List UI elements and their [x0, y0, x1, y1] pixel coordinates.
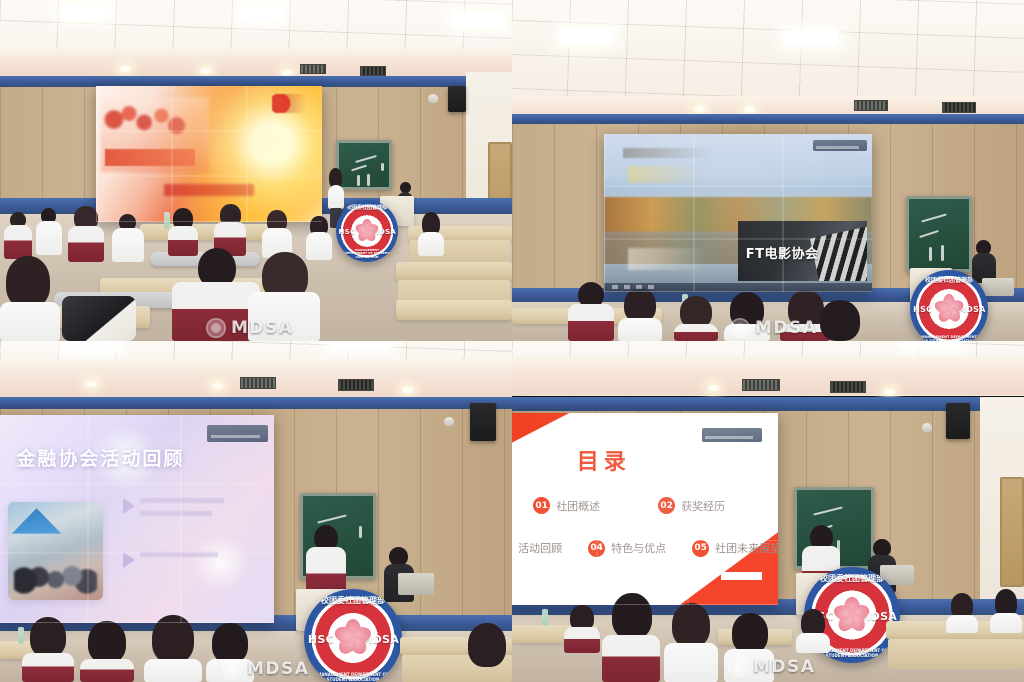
student-torso [664, 643, 718, 682]
audience-member [564, 605, 600, 653]
student-torso [172, 282, 260, 341]
desk-row [140, 224, 270, 240]
audience-member-foreground [248, 252, 320, 341]
slide-text-line [140, 552, 218, 557]
audience-member-foreground [724, 613, 774, 682]
downlight [86, 381, 97, 387]
audience-member [796, 609, 830, 653]
water-bottle [542, 609, 548, 626]
emblem-left-text: HSC [338, 228, 355, 236]
slide-logo-icon [272, 94, 308, 113]
photo-collage: 校团委社团管理部 HSC MDSA MANAGEMENT DEPARTMENT … [0, 0, 1024, 682]
student-torso [796, 633, 830, 653]
laptop [398, 573, 434, 595]
emblem-arc-top: 校团委社团管理部 [336, 204, 398, 211]
emblem-arc-bottom: MANAGEMENT DEPARTMENT OF STUDENT ASSOCIA… [304, 673, 402, 682]
video-wall[interactable]: FT电影协会 [604, 134, 872, 292]
student-hair [624, 288, 656, 322]
student-hair [730, 292, 764, 328]
toc-label: 社团概述 [556, 498, 600, 514]
presentation-toolbar[interactable] [813, 140, 867, 151]
student-torso [36, 221, 62, 255]
downlight [744, 107, 755, 113]
security-camera [428, 94, 438, 103]
student-torso [564, 627, 600, 653]
student-hair [152, 615, 194, 663]
slide-blob [190, 536, 252, 590]
student-hair [212, 623, 248, 663]
audience-member [990, 589, 1022, 633]
ceiling-speaker [448, 86, 466, 112]
student-torso [674, 324, 718, 341]
student-torso [112, 228, 144, 262]
chalk-mark [357, 175, 360, 186]
security-camera [444, 417, 454, 426]
taskbar-icon[interactable] [636, 285, 642, 289]
chalk-mark [919, 230, 939, 238]
hsc-mdsa-club-emblem: 校团委社团管理部 HSC MDSA MANAGEMENT DEPARTMENT … [910, 270, 988, 341]
video-wall[interactable]: 目录 01 社团概述 02 获奖经历 03 活动回顾 [512, 413, 778, 605]
audience-member-foreground [618, 288, 662, 341]
play-triangle-icon [123, 552, 135, 568]
air-vent [742, 379, 780, 391]
slide-film-club: FT电影协会 [604, 134, 872, 292]
student-torso [4, 225, 32, 259]
toc-item[interactable]: 01 社团概述 [533, 497, 600, 514]
chalk-mark [367, 174, 370, 186]
ceiling-panel-light [330, 341, 390, 349]
photo-top-right[interactable]: FT电影协会 校 [512, 0, 1024, 341]
ceiling-speaker [470, 403, 496, 441]
student-hair [820, 300, 860, 341]
student-torso [724, 649, 774, 682]
slide-image-card [8, 502, 103, 600]
toc-label: 获奖经历 [681, 498, 725, 514]
audience-member-foreground [0, 256, 60, 341]
student-hair [672, 603, 710, 647]
wall-blue-band [512, 114, 1024, 124]
air-vent [830, 381, 866, 393]
student-torso [80, 659, 134, 682]
presentation-toolbar[interactable] [207, 425, 269, 442]
student-hair [732, 613, 768, 653]
air-vent [338, 379, 374, 391]
slide-title: 金融协会活动回顾 [16, 444, 184, 471]
slide-finance-review: 金融协会活动回顾 [0, 415, 274, 623]
toc-item[interactable]: 03 活动回顾 [512, 540, 562, 557]
slide-text-line [140, 498, 224, 503]
downlight [694, 106, 705, 112]
audience-member [36, 208, 62, 258]
hsc-mdsa-club-emblem: 校团委社团管理部 HSC MDSA MANAGEMENT DEPARTMENT … [304, 589, 402, 682]
audience-member [112, 214, 144, 262]
student-torso [0, 302, 60, 341]
toc-number: 04 [588, 540, 605, 557]
backpack [62, 296, 136, 341]
slide-people-blur [14, 549, 98, 594]
audience-member-foreground [674, 296, 718, 341]
taskbar-icon[interactable] [612, 285, 618, 289]
downlight [120, 66, 131, 72]
taskbar-icon[interactable] [624, 285, 630, 289]
slide-white-bar [721, 572, 762, 580]
slide-banner-strip [105, 149, 195, 167]
student-torso [206, 659, 254, 682]
slide-photo-card: FT电影协会 [738, 221, 867, 281]
presentation-toolbar[interactable] [702, 428, 762, 441]
slide-body-text [628, 248, 708, 270]
audience-member [418, 212, 444, 256]
chalk-mark [355, 155, 377, 163]
slide-card-title: FT电影协会 [746, 243, 819, 262]
downlight [200, 68, 211, 74]
student-torso [418, 232, 444, 256]
toc-label: 社团未来展望 [715, 540, 778, 556]
toc-item[interactable]: 02 获奖经历 [658, 497, 725, 514]
presentation-taskbar[interactable] [604, 283, 872, 292]
ceiling-speaker [946, 403, 970, 439]
student-torso [946, 615, 978, 633]
toc-row-2: 03 活动回顾 04 特色与优点 05 社团未来展望 [512, 540, 778, 557]
student-hair [30, 617, 66, 657]
chalk-mark [929, 247, 932, 261]
cherry-blossom-icon [834, 597, 870, 633]
emblem-arc-bottom: MANAGEMENT DEPARTMENT OF STUDENT ASSOCIA… [336, 249, 398, 259]
slide-header-text [623, 148, 714, 157]
audience-member-foreground [664, 603, 718, 682]
slide-title: 目录 [577, 444, 631, 476]
audience-member-foreground [724, 292, 770, 341]
cherry-blossom-icon [334, 619, 371, 656]
audience-member-foreground [22, 617, 74, 682]
hsc-mdsa-club-emblem: 校团委社团管理部 HSC MDSA MANAGEMENT DEPARTMENT … [336, 200, 398, 262]
ceiling-panel-light [61, 4, 112, 20]
chalk-mark [921, 213, 947, 222]
chalk-mark [941, 245, 944, 261]
emblem-left-text: HSC [913, 305, 932, 314]
photo-bottom-right[interactable]: 目录 01 社团概述 02 获奖经历 03 活动回顾 [512, 341, 1024, 682]
student-torso [618, 318, 662, 341]
emblem-arc-top: 校团委社团管理部 [804, 573, 900, 584]
air-vent [360, 66, 386, 76]
chalk-mark [381, 163, 384, 171]
chalk-mark [351, 165, 367, 172]
toc-number: 01 [533, 497, 550, 514]
air-vent [300, 64, 326, 74]
blackboard [906, 196, 972, 272]
student-torso [568, 304, 614, 341]
slide-table-of-contents: 目录 01 社团概述 02 获奖经历 03 活动回顾 [512, 413, 778, 605]
photo-top-left[interactable]: 校团委社团管理部 HSC MDSA MANAGEMENT DEPARTMENT … [0, 0, 512, 341]
toc-item[interactable]: 04 特色与优点 [588, 540, 666, 557]
audience-member-foreground [812, 300, 866, 341]
slide-tent-shape [12, 508, 61, 533]
desk-row [396, 300, 512, 320]
photo-bottom-left[interactable]: 金融协会活动回顾 [0, 341, 512, 682]
toc-number: 02 [658, 497, 675, 514]
slide-subtitle-text [628, 166, 703, 183]
slide-title-block [164, 184, 254, 196]
security-camera [922, 423, 932, 432]
student-torso [724, 324, 770, 341]
downlight [212, 383, 223, 389]
chalk-mark [359, 526, 362, 538]
toc-number: 05 [692, 540, 709, 557]
ceiling-panel-light [451, 12, 504, 28]
student-hair [612, 593, 652, 639]
emblem-arc-top: 校团委社团管理部 [910, 275, 988, 284]
audience-member-foreground [80, 621, 134, 682]
ceiling-panel-light [783, 30, 838, 46]
desk-front [888, 639, 1024, 669]
audience-member [262, 210, 292, 258]
cherry-blossom-icon [355, 219, 379, 243]
audience-member-foreground [144, 615, 202, 682]
play-triangle-icon [123, 498, 135, 514]
student-hair [88, 621, 126, 663]
air-vent [854, 100, 888, 111]
audience-member-foreground [602, 593, 660, 682]
ceiling-soffit [0, 49, 512, 77]
student-torso [990, 613, 1022, 633]
audience-member-foreground [172, 248, 260, 341]
audience-member-foreground [206, 623, 254, 682]
slide-text-line [140, 511, 213, 516]
downlight [402, 387, 413, 393]
ceiling-panel-light [239, 6, 285, 21]
ceiling-panel-light [61, 341, 123, 351]
wall-blue-band [0, 397, 512, 409]
chalk-mark [317, 514, 347, 523]
student-torso [22, 653, 74, 682]
ceiling-panel-light [559, 28, 616, 44]
audience-member [4, 212, 32, 262]
cherry-blossom-icon [934, 294, 964, 324]
room-door[interactable] [1000, 477, 1024, 587]
video-wall[interactable]: 金融协会活动回顾 [0, 415, 274, 623]
emblem-left-text: HSC [308, 633, 334, 646]
slide-orange-concert [96, 86, 322, 222]
student-torso [144, 659, 202, 682]
audience-member [68, 206, 104, 262]
slide-corner-triangle-top [512, 413, 577, 451]
student-hair [468, 623, 506, 667]
toc-label: 活动回顾 [518, 540, 562, 556]
desk-row [396, 262, 512, 280]
audience-member [946, 593, 978, 633]
downlight [884, 389, 895, 395]
audience-member-foreground [462, 623, 512, 682]
air-vent [240, 377, 276, 389]
chalk-mark [813, 506, 843, 515]
video-wall[interactable] [96, 86, 322, 222]
emblem-arc-top: 校团委社团管理部 [304, 595, 402, 606]
ceiling-panel-light [902, 341, 958, 347]
student-torso [68, 226, 104, 262]
air-vent [942, 102, 976, 113]
toc-row-1: 01 社团概述 02 获奖经历 [533, 497, 725, 514]
student-torso [248, 292, 320, 341]
downlight [708, 385, 719, 391]
toc-item[interactable]: 05 社团未来展望 [692, 540, 778, 557]
toc-label: 特色与优点 [611, 540, 666, 556]
student-torso [602, 635, 660, 682]
student-hair [6, 256, 50, 308]
taskbar-icon[interactable] [648, 285, 654, 289]
